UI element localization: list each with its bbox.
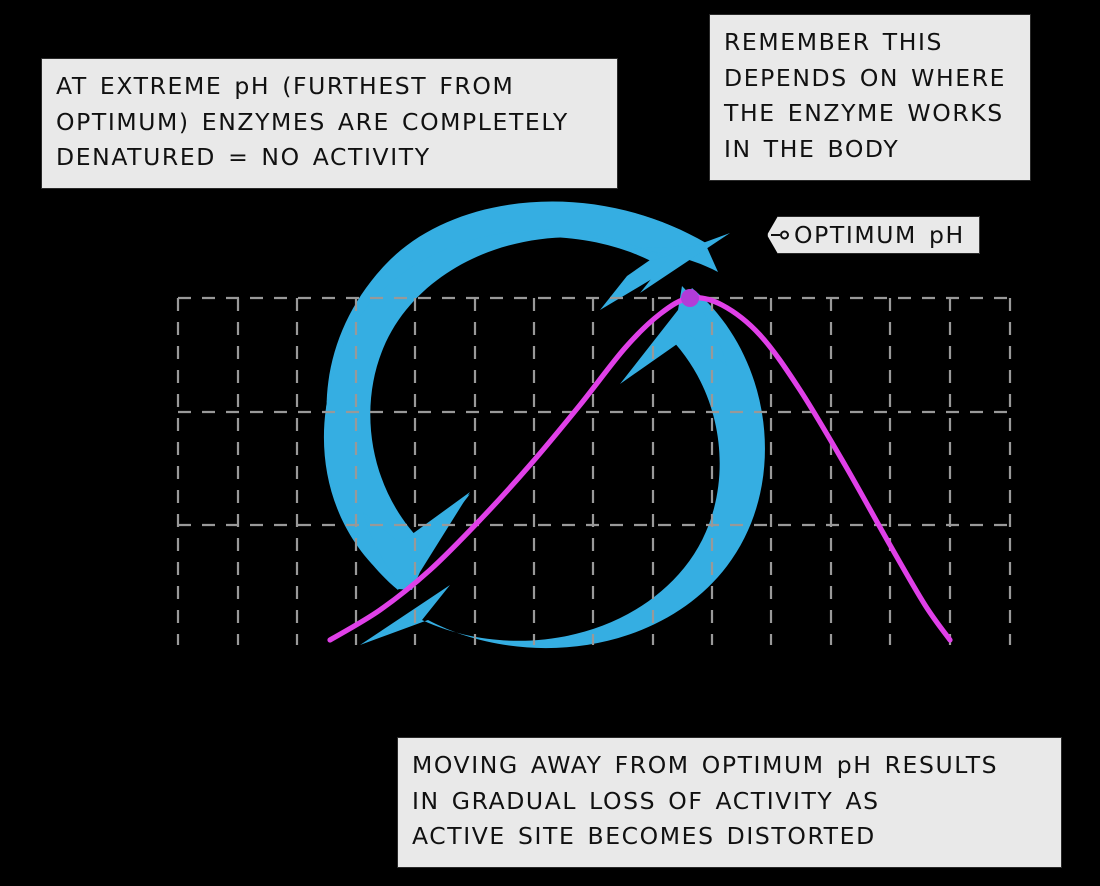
callout-line: THE ENZYME WORKS (724, 96, 1016, 132)
callout-gradual-activity-loss: MOVING AWAY FROM OPTIMUM pH RESULTS IN G… (397, 737, 1062, 868)
tag-stem-icon (771, 234, 780, 236)
tag-eyelet-icon (780, 231, 789, 240)
callout-line: AT EXTREME pH (FURTHEST FROM (56, 69, 603, 105)
callout-extreme-ph-denatured: AT EXTREME pH (FURTHEST FROM OPTIMUM) EN… (41, 58, 618, 189)
optimum-ph-tag: OPTIMUM pH (767, 216, 980, 254)
optimum-ph-tag-label: OPTIMUM pH (794, 221, 965, 249)
callout-line: REMEMBER THIS (724, 25, 1016, 61)
watermark-cycle-arrows-logo (324, 202, 765, 649)
callout-line: ACTIVE SITE BECOMES DISTORTED (412, 819, 1047, 855)
chart-gridlines (178, 298, 1010, 645)
graph-canvas: AT EXTREME pH (FURTHEST FROM OPTIMUM) EN… (0, 0, 1100, 886)
callout-line: DEPENDS ON WHERE (724, 61, 1016, 97)
callout-line: MOVING AWAY FROM OPTIMUM pH RESULTS (412, 748, 1047, 784)
callout-enzyme-body-location: REMEMBER THIS DEPENDS ON WHERE THE ENZYM… (709, 14, 1031, 181)
callout-line: DENATURED = NO ACTIVITY (56, 140, 603, 176)
callout-line: OPTIMUM) ENZYMES ARE COMPLETELY (56, 105, 603, 141)
enzyme-activity-curve (330, 298, 950, 640)
callout-line: IN THE BODY (724, 132, 1016, 168)
callout-line: IN GRADUAL LOSS OF ACTIVITY AS (412, 784, 1047, 820)
optimum-ph-marker (681, 289, 699, 307)
tag-leader-line (700, 236, 765, 298)
